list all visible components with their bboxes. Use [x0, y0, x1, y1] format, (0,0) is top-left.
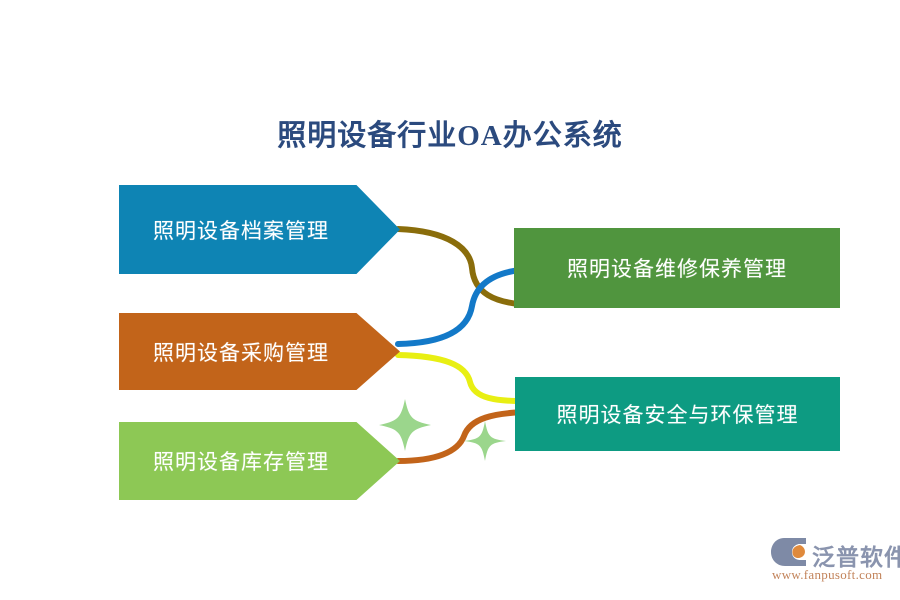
arrow-purchase-management-label: 照明设备采购管理 [119, 337, 329, 367]
arrow-inventory-management-label: 照明设备库存管理 [119, 446, 329, 476]
connector-yellow-path [398, 355, 534, 401]
sparkle-large-icon [379, 399, 431, 451]
arrow-file-management[interactable]: 照明设备档案管理 [119, 185, 400, 274]
watermark: 泛普软件 www.fanpusoft.com [768, 536, 894, 590]
arrow-file-management-label: 照明设备档案管理 [119, 215, 329, 245]
diagram-canvas: 照明设备行业OA办公系统 照明设备档案管理 照明设备采购管理 照明设备库存管理 … [0, 0, 900, 600]
box-safety-environment-management-label: 照明设备安全与环保管理 [557, 399, 799, 429]
arrow-purchase-management[interactable]: 照明设备采购管理 [119, 313, 400, 390]
box-maintenance-management[interactable]: 照明设备维修保养管理 [514, 228, 840, 308]
watermark-url: www.fanpusoft.com [772, 567, 882, 583]
connector-orange-path [398, 412, 534, 461]
arrow-inventory-management[interactable]: 照明设备库存管理 [119, 422, 400, 500]
fanpusoft-logo-icon [770, 536, 812, 568]
box-safety-environment-management[interactable]: 照明设备安全与环保管理 [515, 377, 840, 451]
box-maintenance-management-label: 照明设备维修保养管理 [567, 253, 787, 283]
